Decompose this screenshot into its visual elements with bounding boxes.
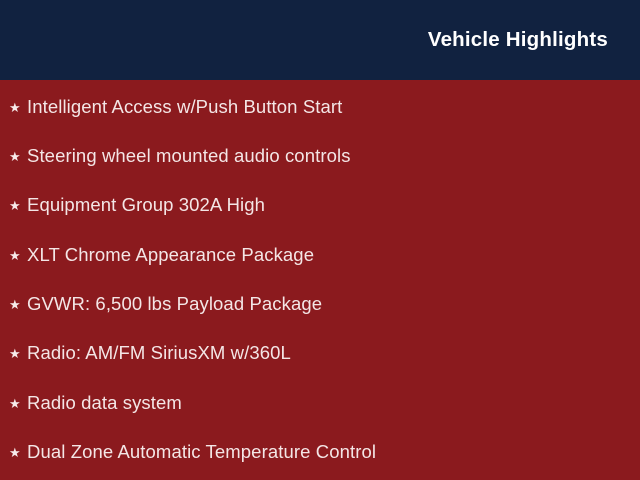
list-item-label: Steering wheel mounted audio controls (27, 147, 351, 166)
page-title: Vehicle Highlights (428, 30, 608, 51)
list-item: ★ Equipment Group 302A High (9, 192, 265, 218)
star-icon: ★ (9, 150, 27, 163)
list-item: ★ GVWR: 6,500 lbs Payload Package (9, 291, 322, 317)
star-icon: ★ (9, 249, 27, 262)
list-item-label: Radio: AM/FM SiriusXM w/360L (27, 344, 291, 363)
list-item: ★ Radio: AM/FM SiriusXM w/360L (9, 340, 291, 366)
list-item-label: GVWR: 6,500 lbs Payload Package (27, 295, 322, 314)
star-icon: ★ (9, 101, 27, 114)
star-icon: ★ (9, 397, 27, 410)
list-item-label: XLT Chrome Appearance Package (27, 246, 314, 265)
list-item: ★ Radio data system (9, 390, 182, 416)
slide-header: Vehicle Highlights (0, 0, 640, 80)
slide-body: ★ Intelligent Access w/Push Button Start… (0, 80, 640, 480)
star-icon: ★ (9, 446, 27, 459)
list-item-label: Dual Zone Automatic Temperature Control (27, 443, 376, 462)
list-item-label: Radio data system (27, 394, 182, 413)
star-icon: ★ (9, 298, 27, 311)
list-item: ★ Dual Zone Automatic Temperature Contro… (9, 439, 376, 465)
list-item: ★ Intelligent Access w/Push Button Start (9, 94, 342, 120)
star-icon: ★ (9, 199, 27, 212)
list-item: ★ Steering wheel mounted audio controls (9, 143, 351, 169)
list-item: ★ XLT Chrome Appearance Package (9, 242, 314, 268)
list-item-label: Equipment Group 302A High (27, 196, 265, 215)
star-icon: ★ (9, 347, 27, 360)
list-item-label: Intelligent Access w/Push Button Start (27, 98, 342, 117)
vehicle-highlights-slide: Vehicle Highlights ★ Intelligent Access … (0, 0, 640, 480)
